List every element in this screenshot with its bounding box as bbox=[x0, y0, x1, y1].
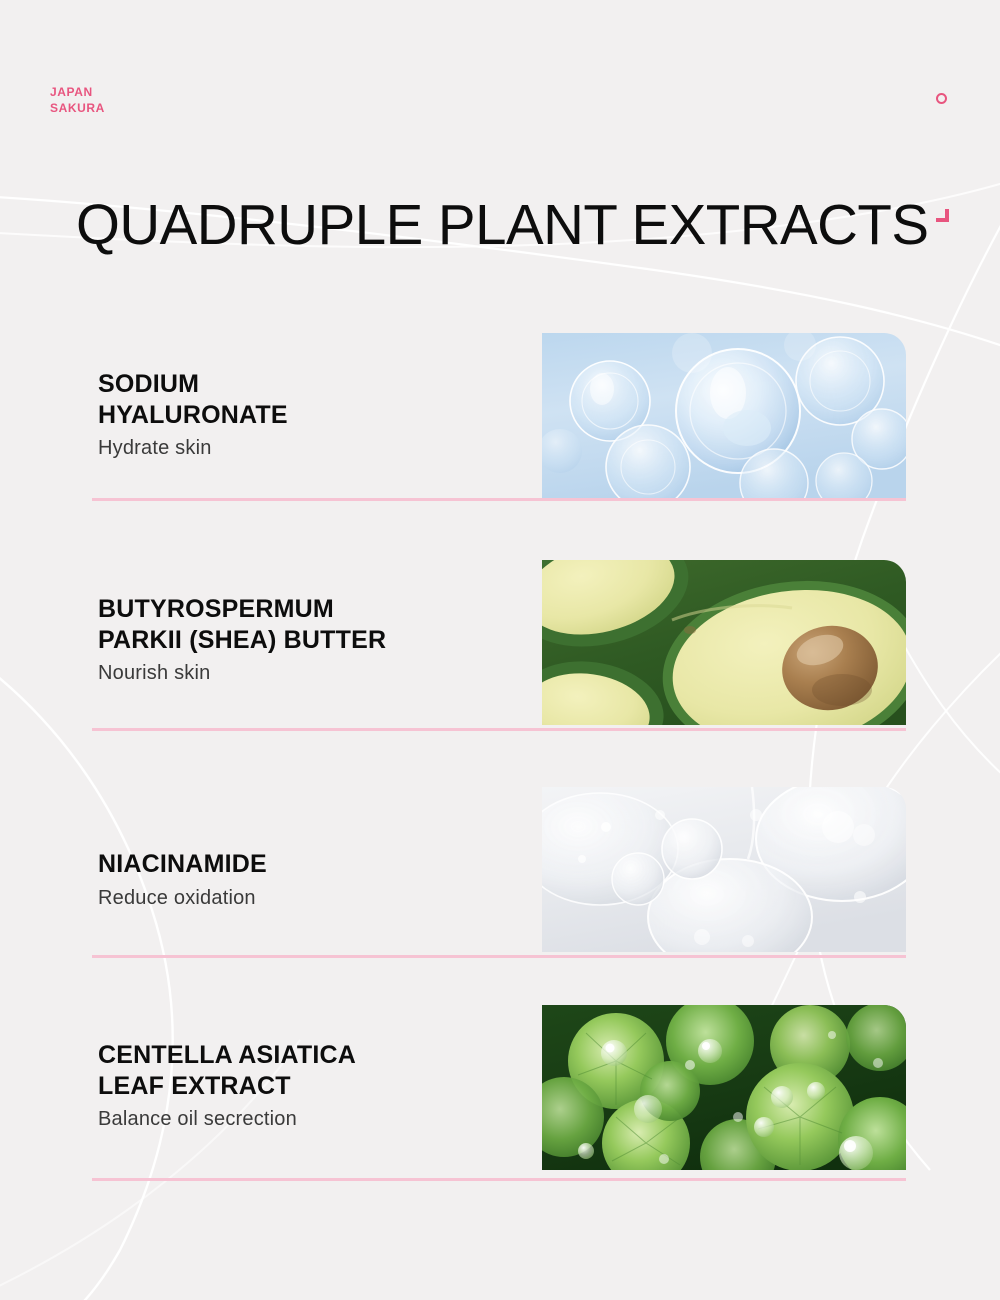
circle-outline-icon bbox=[936, 93, 947, 104]
ingredient-name-line-1: BUTYROSPERMUM bbox=[98, 594, 528, 625]
product-infographic-page: JAPAN SAKURA QUADRUPLE PLANT EXTRACTS SO… bbox=[0, 0, 1000, 1300]
ingredient-name-line-1: CENTELLA ASIATICA bbox=[98, 1040, 528, 1071]
ingredient-name-line-1: NIACINAMIDE bbox=[98, 849, 528, 880]
ingredient-text-group: CENTELLA ASIATICA LEAF EXTRACT Balance o… bbox=[98, 1040, 528, 1131]
ingredient-benefit: Hydrate skin bbox=[98, 437, 528, 460]
ingredient-name-line-1: SODIUM bbox=[98, 369, 528, 400]
ingredient-benefit: Balance oil secrection bbox=[98, 1108, 528, 1131]
avocado-halves-photo bbox=[542, 560, 906, 725]
section-divider bbox=[92, 1178, 906, 1181]
ingredient-benefit: Nourish skin bbox=[98, 662, 528, 685]
ingredient-name-line-2: HYALURONATE bbox=[98, 400, 528, 431]
page-title: QUADRUPLE PLANT EXTRACTS bbox=[76, 192, 929, 258]
ingredient-text-group: NIACINAMIDE Reduce oxidation bbox=[98, 849, 528, 910]
section-divider bbox=[92, 498, 906, 501]
water-bubbles-photo bbox=[542, 333, 906, 498]
brand-line-1: JAPAN bbox=[50, 84, 105, 100]
ingredient-text-group: BUTYROSPERMUM PARKII (SHEA) BUTTER Nouri… bbox=[98, 594, 528, 685]
ingredient-benefit: Reduce oxidation bbox=[98, 887, 528, 910]
ingredient-name-line-2: LEAF EXTRACT bbox=[98, 1071, 528, 1102]
clear-gel-droplets-photo bbox=[542, 787, 906, 952]
centella-leaves-photo bbox=[542, 1005, 906, 1170]
ingredient-text-group: SODIUM HYALURONATE Hydrate skin bbox=[98, 369, 528, 460]
corner-bracket-icon bbox=[936, 209, 949, 222]
brand-line-2: SAKURA bbox=[50, 100, 105, 116]
brand-logo: JAPAN SAKURA bbox=[50, 84, 105, 116]
section-divider bbox=[92, 955, 906, 958]
section-divider bbox=[92, 728, 906, 731]
ingredient-name-line-2: PARKII (SHEA) BUTTER bbox=[98, 625, 528, 656]
